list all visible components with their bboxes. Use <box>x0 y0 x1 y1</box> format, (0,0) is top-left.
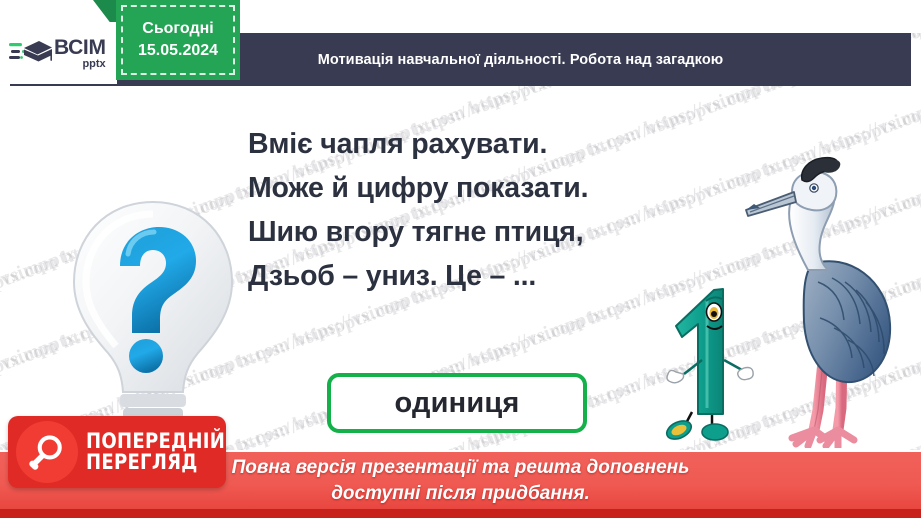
brand-name: ВСІМ <box>54 37 106 58</box>
date-badge-value: 15.05.2024 <box>138 42 218 60</box>
question-mark-lightbulb-icon <box>58 196 248 428</box>
preview-badge: ПОПЕРЕДНІЙ ПЕРЕГЛЯД <box>8 416 226 488</box>
brand-suffix: pptx <box>54 59 106 70</box>
purchase-banner-line1: Повна версія презентації та решта доповн… <box>232 455 690 481</box>
magnifier-icon <box>16 421 78 483</box>
brand-logo-text: ВСІМ pptx <box>54 37 106 70</box>
bottom-accent-strip <box>0 509 921 518</box>
riddle-line: Може й цифру показати. <box>248 166 708 210</box>
header-title: Мотивація навчальної діяльності. Робота … <box>198 52 724 68</box>
date-badge-label: Сьогодні <box>142 20 213 38</box>
presentation-slide: https://vsimpptx.com https://vsimpptx.co… <box>0 0 921 518</box>
date-badge: Сьогодні 15.05.2024 <box>116 0 240 80</box>
preview-badge-line2: ПЕРЕГЛЯД <box>86 452 225 473</box>
riddle-line: Дзьоб – униз. Це – ... <box>248 254 708 298</box>
riddle-line: Шию вгору тягне птиця, <box>248 210 708 254</box>
preview-badge-line1: ПОПЕРЕДНІЙ <box>86 431 225 452</box>
brand-logo[interactable]: ВСІМ pptx <box>0 22 117 84</box>
heron-bird-illustration <box>742 152 914 448</box>
graduation-cap-icon <box>8 36 52 70</box>
preview-badge-labels: ПОПЕРЕДНІЙ ПЕРЕГЛЯД <box>86 431 248 474</box>
riddle-line: Вміє чапля рахувати. <box>248 122 708 166</box>
purchase-banner-line2: доступні після придбання. <box>331 481 590 507</box>
answer-text: одиниця <box>394 387 519 420</box>
answer-box: одиниця <box>327 373 587 433</box>
riddle-text: Вміє чапля рахувати. Може й цифру показа… <box>248 122 708 298</box>
